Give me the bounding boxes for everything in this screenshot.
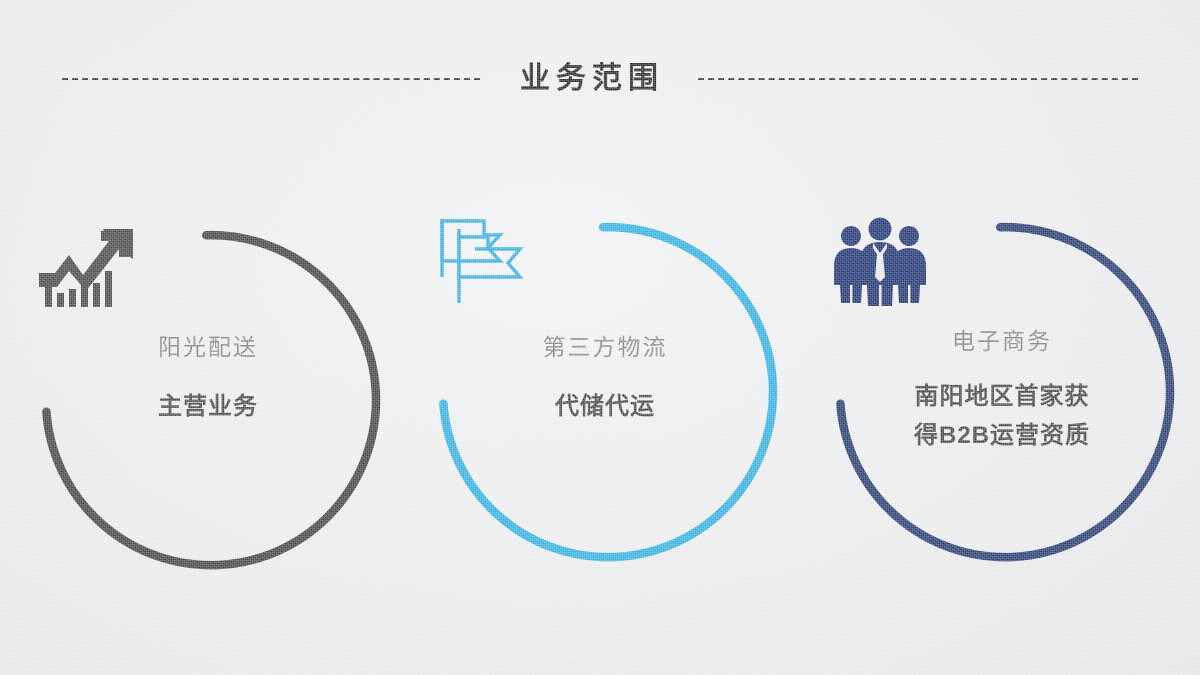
card-subtitle: 第三方物流 <box>448 333 762 362</box>
card-main-line: 南阳地区首家获 <box>845 378 1159 417</box>
slide-header: 业务范围 <box>0 52 1200 106</box>
page-title: 业务范围 <box>514 64 664 94</box>
dashed-rule-right <box>698 78 1138 80</box>
flags-icon <box>428 215 538 310</box>
card-labels: 电子商务 南阳地区首家获 得B2B运营资质 <box>845 327 1159 456</box>
business-card-sunshine-delivery[interactable]: 阳光配送 主营业务 <box>23 215 393 585</box>
card-labels: 第三方物流 代储代运 <box>448 333 762 427</box>
card-main-text: 主营业务 <box>51 388 365 427</box>
card-main-line: 代储代运 <box>448 388 762 427</box>
dashed-rule-left <box>62 78 480 80</box>
slide-canvas: 业务范围 <box>0 0 1200 675</box>
people-group-icon <box>825 215 935 310</box>
card-main-text: 代储代运 <box>448 388 762 427</box>
business-card-third-party-logistics[interactable]: 第三方物流 代储代运 <box>420 207 790 577</box>
card-labels: 阳光配送 主营业务 <box>51 333 365 427</box>
card-subtitle: 阳光配送 <box>51 333 365 362</box>
business-card-ecommerce[interactable]: 电子商务 南阳地区首家获 得B2B运营资质 <box>817 207 1187 577</box>
growth-chart-icon <box>31 223 141 318</box>
card-main-text: 南阳地区首家获 得B2B运营资质 <box>845 378 1159 456</box>
card-main-line: 得B2B运营资质 <box>845 417 1159 456</box>
card-main-line: 主营业务 <box>51 388 365 427</box>
card-subtitle: 电子商务 <box>845 327 1159 356</box>
